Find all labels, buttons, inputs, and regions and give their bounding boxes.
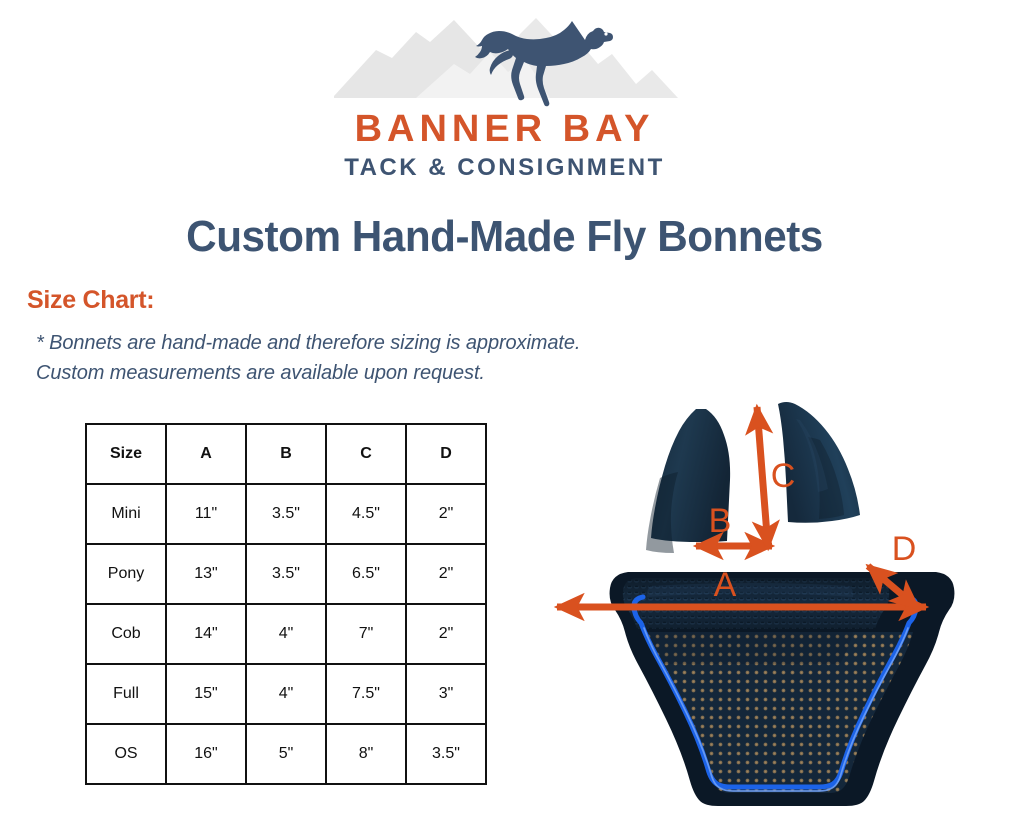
cell-d: 2": [406, 544, 486, 604]
cell-a: 15": [166, 664, 246, 724]
cell-c: 7": [326, 604, 406, 664]
brand-logo: BANNER BAY TACK & CONSIGNMENT: [0, 0, 1009, 196]
cell-size: Pony: [86, 544, 166, 604]
cell-a: 11": [166, 484, 246, 544]
label-d: D: [892, 530, 917, 568]
table-row: Mini 11" 3.5" 4.5" 2": [86, 484, 486, 544]
brand-name: BANNER BAY: [0, 110, 1009, 148]
table-row: Pony 13" 3.5" 6.5" 2": [86, 544, 486, 604]
sizing-note: * Bonnets are hand-made and therefore si…: [36, 328, 596, 388]
cell-b: 3.5": [246, 484, 326, 544]
cell-c: 7.5": [326, 664, 406, 724]
cell-b: 5": [246, 724, 326, 784]
cell-a: 16": [166, 724, 246, 784]
cell-d: 3": [406, 664, 486, 724]
size-chart-label: Size Chart:: [27, 286, 154, 315]
brand-tagline: TACK & CONSIGNMENT: [0, 155, 1009, 181]
cell-size: Mini: [86, 484, 166, 544]
size-chart-table: Size A B C D Mini 11" 3.5" 4.5" 2" Pony …: [85, 423, 487, 785]
cell-a: 14": [166, 604, 246, 664]
size-chart-page: BANNER BAY TACK & CONSIGNMENT Custom Han…: [0, 0, 1009, 823]
cell-size: OS: [86, 724, 166, 784]
table-row: Cob 14" 4" 7" 2": [86, 604, 486, 664]
table-row: Full 15" 4" 7.5" 3": [86, 664, 486, 724]
column-header-b: B: [246, 424, 326, 484]
cell-size: Full: [86, 664, 166, 724]
cell-d: 2": [406, 604, 486, 664]
label-a: A: [714, 566, 737, 604]
fly-bonnet-diagram: A B C D: [500, 380, 1000, 820]
page-title: Custom Hand-Made Fly Bonnets: [20, 212, 989, 262]
cell-b: 4": [246, 604, 326, 664]
table-header-row: Size A B C D: [86, 424, 486, 484]
cell-a: 13": [166, 544, 246, 604]
arrow-c: [757, 407, 768, 548]
cell-c: 6.5": [326, 544, 406, 604]
cell-c: 4.5": [326, 484, 406, 544]
column-header-c: C: [326, 424, 406, 484]
cell-d: 2": [406, 484, 486, 544]
cell-size: Cob: [86, 604, 166, 664]
label-b: B: [709, 502, 732, 540]
column-header-d: D: [406, 424, 486, 484]
column-header-a: A: [166, 424, 246, 484]
cell-b: 4": [246, 664, 326, 724]
label-c: C: [771, 457, 796, 495]
cell-b: 3.5": [246, 544, 326, 604]
mountain-horse-logo-icon: [330, 4, 682, 108]
cell-c: 8": [326, 724, 406, 784]
cell-d: 3.5": [406, 724, 486, 784]
bonnet-ears: [646, 402, 860, 553]
column-header-size: Size: [86, 424, 166, 484]
table-row: OS 16" 5" 8" 3.5": [86, 724, 486, 784]
